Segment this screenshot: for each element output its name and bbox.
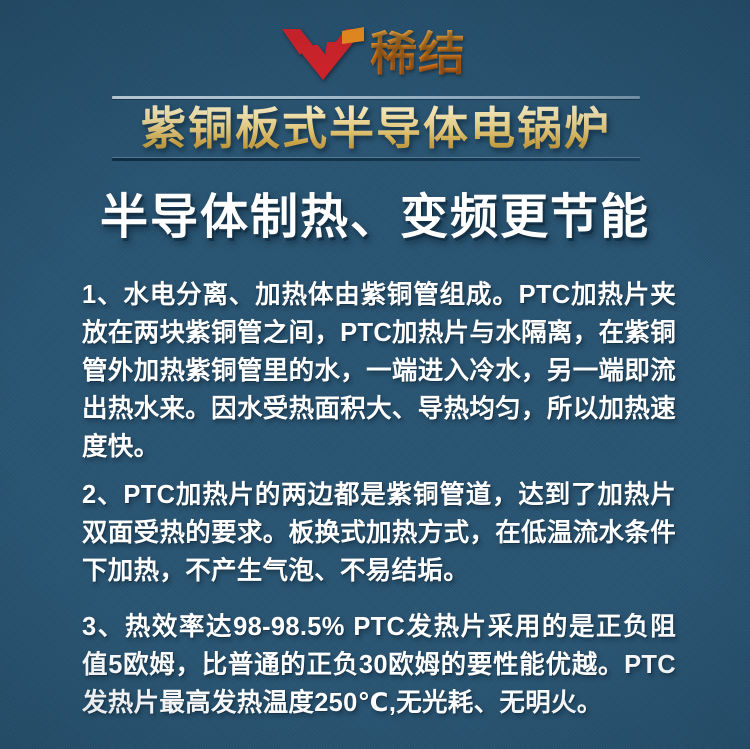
brand-logo: 稀结 [0,22,750,84]
feature-paragraph-3: 3、热效率达98-98.5% PTC发热片采用的是正负阻值5欧姆，比普通的正负3… [82,608,676,722]
title-rule-bottom [112,158,640,161]
feature-paragraph-2: 2、PTC加热片的两边都是紫铜管道，达到了加热片双面受热的要求。板换式加热方式，… [82,476,676,590]
body-copy: 1、水电分离、加热体由紫铜管组成。PTC加热片夹放在两块紫铜管之间，PTC加热片… [82,276,676,722]
page-title: 紫铜板式半导体电锅炉 [112,99,640,158]
xijie-x-mark-icon [280,25,366,81]
product-poster: 稀结 紫铜板式半导体电锅炉 半导体制热、变频更节能 1、水电分离、加热体由紫铜管… [0,0,750,749]
page-subtitle: 半导体制热、变频更节能 [0,188,750,248]
title-block: 紫铜板式半导体电锅炉 [112,96,640,161]
brand-name: 稀结 [370,30,470,77]
feature-paragraph-1: 1、水电分离、加热体由紫铜管组成。PTC加热片夹放在两块紫铜管之间，PTC加热片… [82,276,676,466]
